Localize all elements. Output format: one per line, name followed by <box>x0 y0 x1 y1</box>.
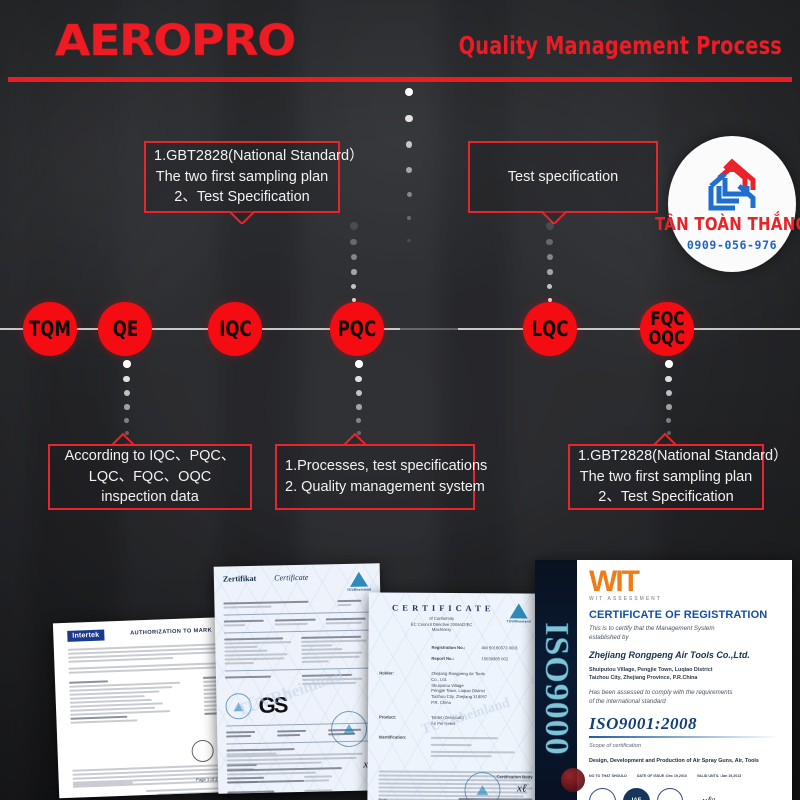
tuv-round-stamp-icon <box>331 711 368 748</box>
tuv-product-label: Product: <box>379 715 431 727</box>
timeline-node-tqm-label: TQM <box>29 319 71 340</box>
callout-bottom-left-line-1: According to IQC、PQC、 <box>58 446 242 467</box>
wit-standard: ISO9001:2008 <box>589 714 780 734</box>
certificate-tuv-conformity[interactable]: C E R T I F I C A T E of Conformity EC C… <box>367 592 545 800</box>
company-logo-badge[interactable]: TÂN TOÀN THẮNG 0909-056-976 <box>668 136 796 272</box>
timeline-node-iqc-label: IQC <box>219 319 252 340</box>
intertek-brand: Intertek <box>67 630 104 642</box>
timeline-node-fqc-oqc[interactable]: FQC OQC <box>640 302 694 356</box>
timeline-axis-gap <box>400 328 458 330</box>
timeline-node-tqm[interactable]: TQM <box>23 302 77 356</box>
intertek-page: Page 1 of 1 <box>196 776 218 783</box>
callout-bottom-mid: 1.Processes, test specifications 2. Qual… <box>275 444 475 510</box>
tuv-zertifikat-title-en: Certificate <box>274 573 308 583</box>
wit-intro-1: This is to certify that the Management S… <box>589 625 780 634</box>
callout-top-right-line-1: Test specification <box>478 167 648 188</box>
intertek-seal-icon <box>191 740 214 763</box>
callout-top-left-line-2: The two first sampling plan <box>154 167 330 188</box>
timeline-axis-right <box>458 328 800 330</box>
iaf-accreditation-icon: IAF <box>623 788 650 800</box>
tuv-rheinland-logo-icon: TÜVRheinland <box>347 571 372 592</box>
tuv-reg-label: Registration No.: <box>431 645 481 651</box>
callout-bottom-left: According to IQC、PQC、 LQC、FQC、OQC inspec… <box>48 444 252 510</box>
tuv-holder-6: P.R. China <box>431 700 487 706</box>
callout-top-right: Test specification <box>468 141 658 213</box>
iso9000-side-text: ISO9000 <box>537 622 575 756</box>
building-monogram-icon <box>695 156 769 216</box>
tuv-report-label: Report No.: <box>431 656 481 662</box>
callout-top-left-line-3: 2、Test Specification <box>154 187 330 208</box>
tuv-report-value: 15039365 002 <box>481 656 508 662</box>
certificate-wit-iso9001[interactable]: ISO9000 WIT WIT ASSESSMENT CERTIFICATE O… <box>535 560 792 800</box>
wit-meta-1: NO TO THAT SHOULD <box>589 774 627 779</box>
header-divider <box>8 77 792 82</box>
wit-meta-3: VALID UNTIL :Jan 19,2013 <box>697 774 741 779</box>
wit-address-1: Shuiputou Village, Pengjie Town, Luqiao … <box>589 666 780 674</box>
callout-bottom-left-line-2: LQC、FQC、OQC <box>58 467 242 488</box>
wit-assessed-2: of the international standard <box>589 698 780 707</box>
wit-address-2: Taizhou City, Zhejiang Province, P.R.Chi… <box>589 674 780 682</box>
timeline-node-lqc[interactable]: LQC <box>523 302 577 356</box>
tuv-seal-icon <box>225 693 252 720</box>
tuv-zertifikat-title-de: Zertifikat <box>223 574 257 584</box>
callout-top-left-line-1: 1.GBT2828(National Standard） <box>154 146 330 167</box>
company-logo-name: TÂN TOÀN THẮNG <box>655 217 800 235</box>
callout-top-left: 1.GBT2828(National Standard） The two fir… <box>144 141 340 213</box>
wit-assessed-1: Has been assessed to comply with the req… <box>589 689 780 698</box>
wit-cert-title: CERTIFICATE OF REGISTRATION <box>589 609 780 621</box>
timeline-node-lqc-label: LQC <box>532 319 569 340</box>
wit-scope-label: Scope of certification <box>589 743 780 749</box>
certificates-gallery: Intertek AUTHORIZATION TO MARK <box>0 505 800 800</box>
dotted-connector-center <box>405 88 413 261</box>
wit-brand-logo: WIT <box>589 568 780 595</box>
brand-logo-aeropro: AEROPRO <box>55 20 295 63</box>
tuv-ident-label: Identification: <box>379 734 431 758</box>
tuv-conformity-scope: Machinery <box>380 627 504 634</box>
wit-intro-2: established by <box>589 634 780 643</box>
wit-meta-2: DATE OF ISSUE :Dec 19,2010 <box>637 774 687 779</box>
callout-top-left-pointer <box>229 211 255 224</box>
timeline-node-pqc[interactable]: PQC <box>330 302 384 356</box>
gs-mark-icon: GS <box>258 696 286 714</box>
tuv-conformity-stamp-icon <box>464 772 500 800</box>
iso9000-side-band: ISO9000 <box>535 560 577 800</box>
cnas-accreditation-icon: CNAS <box>589 788 616 800</box>
intertek-title: AUTHORIZATION TO MARK <box>130 628 212 637</box>
callout-bottom-mid-line-1: 1.Processes, test specifications <box>285 456 465 477</box>
page-title: Quality Management Process <box>459 33 782 58</box>
page-header: AEROPRO Quality Management Process <box>0 0 800 80</box>
certificate-tuv-zertifikat[interactable]: Zertifikat Certificate TÜVRheinland <box>214 563 385 793</box>
cass-accreditation-icon: CASS <box>657 788 683 800</box>
wax-seal-icon <box>561 768 585 792</box>
wit-brand-sub: WIT ASSESSMENT <box>589 596 780 602</box>
callout-bottom-right-line-2: The two first sampling plan <box>578 467 754 488</box>
slide-canvas: AEROPRO Quality Management Process 1.GBT… <box>0 0 800 800</box>
company-logo-phone: 0909-056-976 <box>687 238 777 252</box>
tuv-holder-label: Holder: <box>379 671 431 705</box>
timeline-node-iqc[interactable]: IQC <box>208 302 262 356</box>
timeline-node-qe[interactable]: QE <box>98 302 152 356</box>
timeline-node-pqc-label: PQC <box>338 319 377 340</box>
callout-bottom-right: 1.GBT2828(National Standard） The two fir… <box>568 444 764 510</box>
timeline-node-qe-label: QE <box>112 319 137 340</box>
tuv-product-2: Air Pei Nebel <box>431 721 464 727</box>
wit-company: Zhejiang Rongpeng Air Tools Co.,Ltd. <box>589 650 780 660</box>
callout-top-right-pointer <box>541 211 567 224</box>
tuv-reg-value: AM 50190373 0001 <box>481 645 518 651</box>
callout-bottom-mid-line-2: 2. Quality management system <box>285 477 465 498</box>
tuv-rheinland-logo-icon-2: TÜVRheinland <box>504 603 534 623</box>
wit-scope-value: Design, Development and Production of Ai… <box>589 758 780 764</box>
tuv-conformity-title: C E R T I F I C A T E <box>380 602 504 613</box>
timeline-node-oqc-label: OQC <box>649 329 686 348</box>
callout-bottom-right-line-1: 1.GBT2828(National Standard） <box>578 446 754 467</box>
